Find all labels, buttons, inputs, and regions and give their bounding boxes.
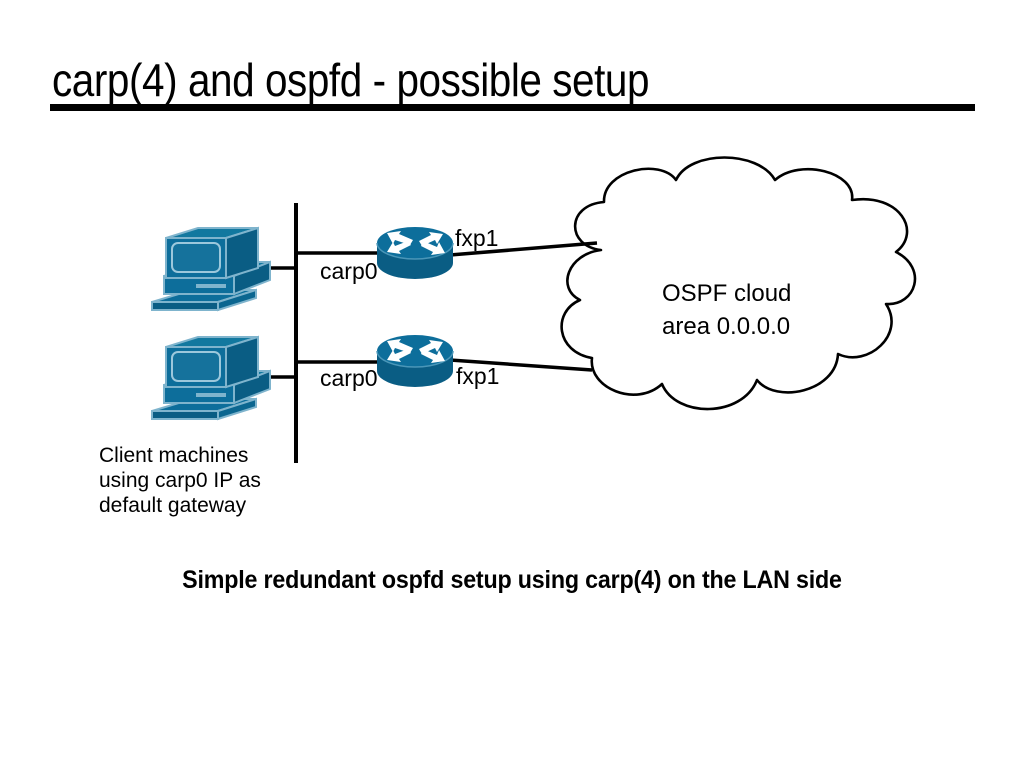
client-note: Client machines using carp0 IP as defaul…: [99, 443, 261, 518]
network-diagram: [0, 0, 1024, 768]
label-fxp1-bottom: fxp1: [456, 363, 499, 389]
workstation-bottom-icon: [152, 337, 270, 419]
slide-caption: Simple redundant ospfd setup using carp(…: [36, 566, 988, 595]
router-top-icon: [377, 227, 453, 279]
client-note-line3: default gateway: [99, 493, 261, 518]
client-note-line2: using carp0 IP as: [99, 468, 261, 493]
label-carp0-top: carp0: [320, 258, 378, 284]
cloud-label-line1: OSPF cloud: [662, 277, 791, 310]
router-bottom-icon: [377, 335, 453, 387]
cloud-label: OSPF cloud area 0.0.0.0: [662, 277, 791, 343]
label-carp0-bottom: carp0: [320, 365, 378, 391]
network-diagram-canvas: [0, 0, 1024, 768]
label-fxp1-top: fxp1: [455, 225, 498, 251]
workstation-top-icon: [152, 228, 270, 310]
cloud-label-line2: area 0.0.0.0: [662, 310, 791, 343]
client-note-line1: Client machines: [99, 443, 261, 468]
